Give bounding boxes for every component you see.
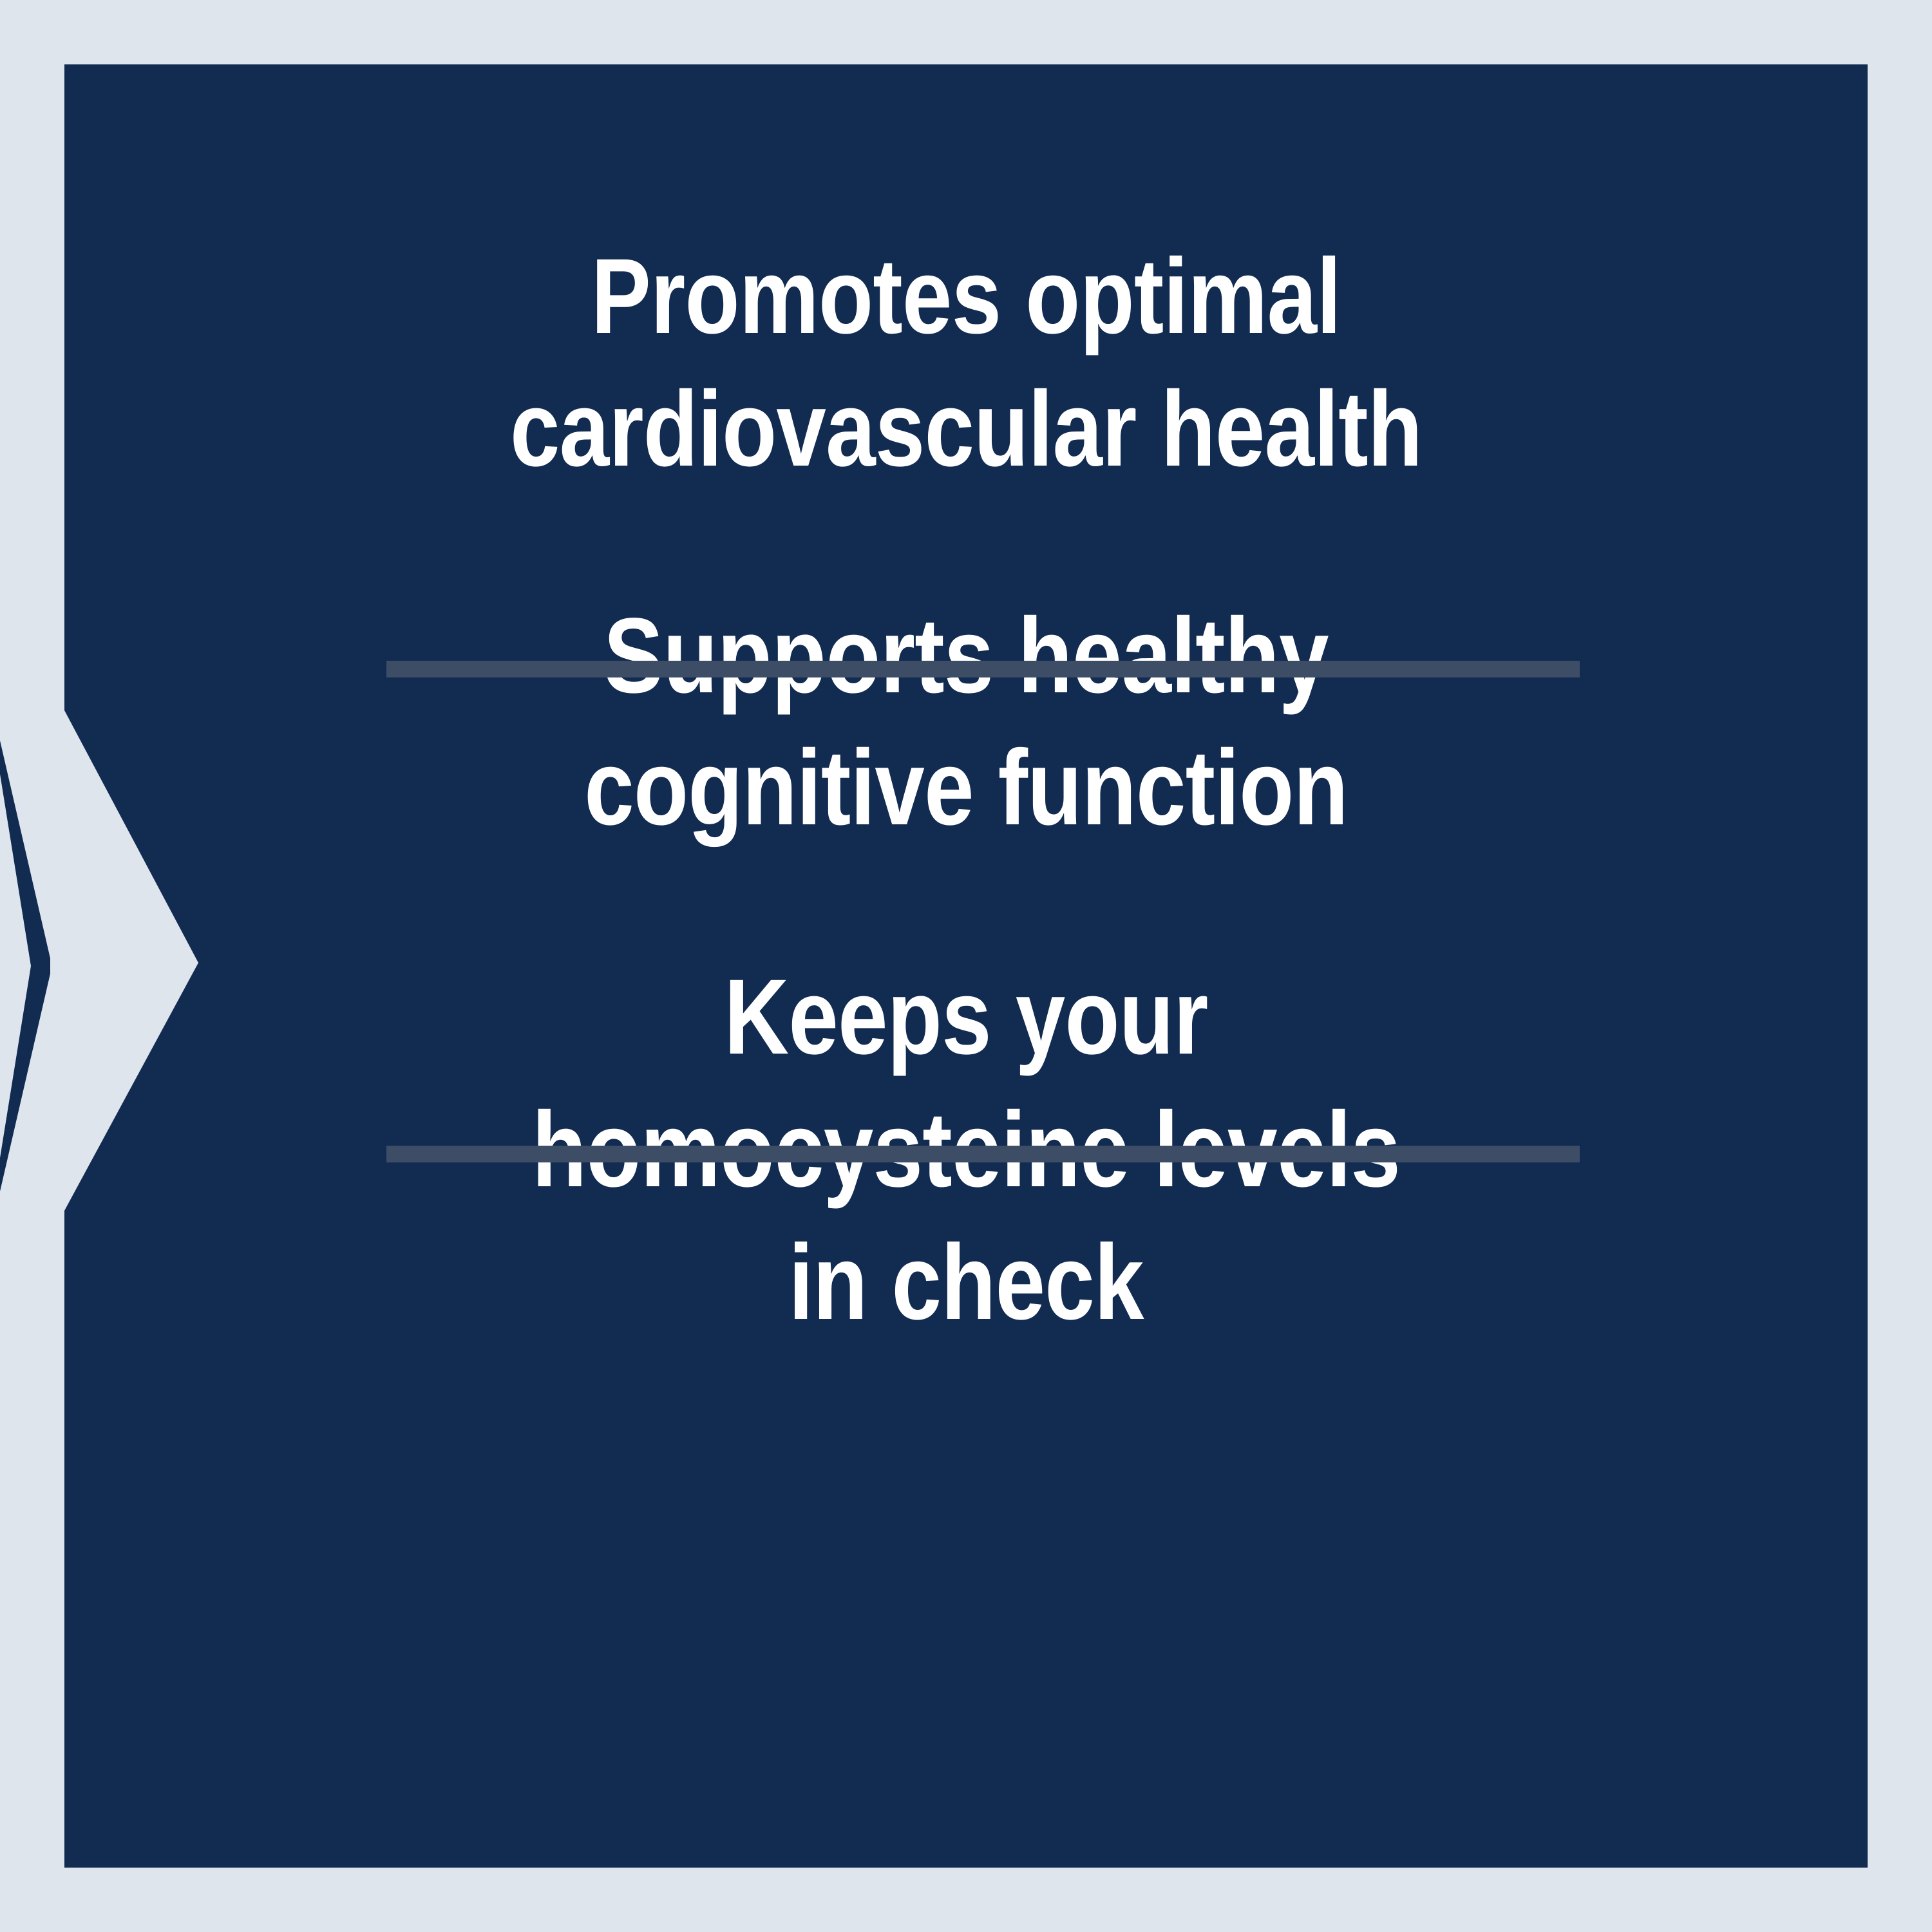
benefit-item-cardiovascular: Promotes optimal cardiovascular health — [209, 231, 1723, 496]
benefit-item-cognitive: Supports healthy cognitive function — [209, 590, 1723, 855]
benefit-divider-1 — [386, 661, 1580, 677]
benefit-divider-2 — [386, 1146, 1580, 1162]
benefits-list: Promotes optimal cardiovascular health S… — [64, 64, 1868, 1868]
benefits-graphic: Promotes optimal cardiovascular health S… — [0, 0, 1932, 1932]
